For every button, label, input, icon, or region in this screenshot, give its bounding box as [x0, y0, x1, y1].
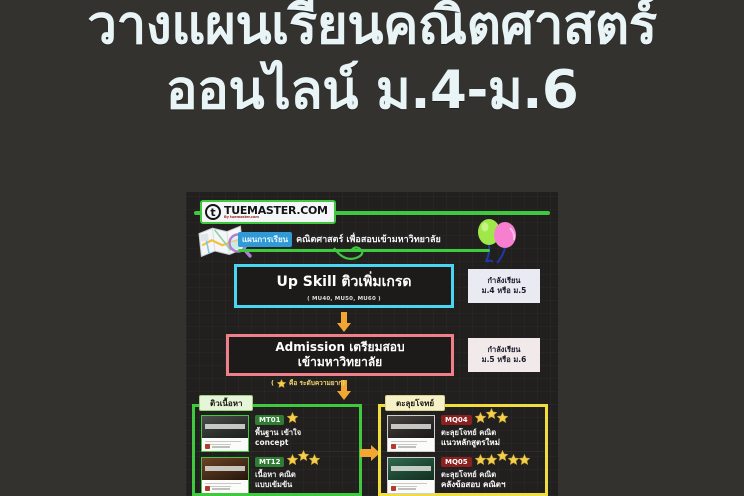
- thumbnail-caption-strip: [205, 424, 245, 429]
- thumbnail-logo-mark: [391, 444, 396, 449]
- thumbnail-meta-bar: [398, 446, 416, 448]
- arrow-down-icon-1: [337, 312, 351, 332]
- course-description: ตะลุยโจทย์ คณิต แนวหลักสูตรใหม่: [441, 428, 545, 449]
- difficulty-stars: [475, 454, 530, 465]
- upskill-course-codes: ( MU40, MU50, MU60 ): [307, 296, 381, 302]
- thumbnail-text-line: [205, 483, 241, 484]
- course-info: MQ05 ตะลุยโจทย์ คณิต คลังข้อสอบ คณิตฯ: [441, 457, 545, 491]
- infographic-page: วางแผนเรียนคณิตศาสตร์ ออนไลน์ ม.4-ม.6 t …: [0, 0, 744, 496]
- thumbnail-caption-strip: [391, 466, 431, 471]
- thumbnail-logo-mark: [205, 444, 210, 449]
- course-info: MQ04 ตะลุยโจทย์ คณิต แนวหลักสูตรใหม่: [441, 415, 545, 449]
- star-icon: [497, 412, 508, 423]
- panel-tab-content[interactable]: ติวเนื้อหา: [199, 395, 253, 411]
- course-row[interactable]: MQ05 ตะลุยโจทย์ คณิต คลังข้อสอบ คณิตฯ: [387, 457, 545, 495]
- upskill-grade-badge: กำลังเรียน ม.4 หรือ ม.5: [468, 269, 540, 303]
- course-description-line-1: เนื้อหา คณิต: [255, 470, 359, 480]
- course-row[interactable]: MT12 เนื้อหา คณิต แบบเข้มข้น: [201, 457, 359, 495]
- page-title-line-2: ออนไลน์ ม.4-ม.6: [0, 59, 744, 124]
- star-icon: [309, 454, 320, 465]
- course-info: MT01 พื้นฐาน เข้าใจ concept: [255, 415, 359, 448]
- course-code-badge: MQ04: [441, 415, 472, 425]
- page-title-line-1: วางแผนเรียนคณิตศาสตร์: [0, 0, 744, 59]
- thumbnail-image: [202, 458, 248, 480]
- thumbnail-text-line: [391, 441, 427, 442]
- thumbnail-footer: [202, 480, 248, 493]
- difficulty-stars: [287, 454, 320, 465]
- course-description-line-1: พื้นฐาน เข้าใจ: [255, 428, 359, 438]
- course-code-row: MQ04: [441, 415, 545, 427]
- course-code-row: MT01: [255, 415, 359, 427]
- panel-problem-courses: ตะลุยโจทย์ MQ04: [378, 404, 548, 496]
- course-row[interactable]: MQ04 ตะลุยโจทย์ คณิต แนวหลักสูตรใหม่: [387, 415, 545, 453]
- page-title: วางแผนเรียนคณิตศาสตร์ ออนไลน์ ม.4-ม.6: [0, 0, 744, 123]
- course-code-badge: MT01: [255, 415, 284, 425]
- course-code-badge: MQ05: [441, 457, 472, 467]
- admission-heading-line-2: เข้ามหาวิทยาลัย: [298, 355, 382, 370]
- brand-tagline: By tuemaster.com: [224, 216, 328, 220]
- course-row[interactable]: MT01 พื้นฐาน เข้าใจ concept: [201, 415, 359, 453]
- legend-text: คือ ระดับความยาก): [289, 378, 345, 388]
- star-icon: [277, 379, 286, 388]
- admission-grade-badge: กำลังเรียน ม.5 หรือ ม.6: [468, 338, 540, 372]
- course-description: พื้นฐาน เข้าใจ concept: [255, 428, 359, 448]
- star-icon: [298, 450, 309, 461]
- upskill-box[interactable]: Up Skill ติวเพิ่มเกรด ( MU40, MU50, MU60…: [234, 264, 454, 308]
- thumbnail-text-line: [391, 483, 427, 484]
- thumbnail-text-line: [205, 441, 241, 442]
- brand-logo-text: TUEMASTER.COM By tuemaster.com: [224, 205, 328, 220]
- course-code-row: MT12: [255, 457, 359, 469]
- panel-tab-problems[interactable]: ตะลุยโจทย์: [385, 395, 445, 411]
- star-icon: [497, 450, 508, 461]
- upskill-heading: Up Skill ติวเพิ่มเกรด: [277, 271, 412, 293]
- star-icon: [508, 454, 519, 465]
- star-legend: ( คือ ระดับความยาก): [271, 378, 345, 388]
- star-icon: [287, 454, 298, 465]
- thumbnail-image: [202, 416, 248, 438]
- thumbnail-logo-mark: [205, 486, 210, 491]
- star-icon: [486, 408, 497, 419]
- thumbnail-logo-mark: [391, 486, 396, 491]
- thumbnail-meta-bar: [212, 446, 230, 448]
- course-description: เนื้อหา คณิต แบบเข้มข้น: [255, 470, 359, 490]
- course-description-line-2: concept: [255, 438, 359, 448]
- course-info: MT12 เนื้อหา คณิต แบบเข้มข้น: [255, 457, 359, 490]
- swirl-decoration-icon: [332, 244, 370, 262]
- panel-content-courses: ติวเนื้อหา MT01: [192, 404, 362, 496]
- thumbnail-footer: [388, 438, 434, 451]
- thumbnail-meta-bar: [212, 488, 230, 490]
- thumbnail-caption-strip: [391, 424, 431, 429]
- course-description-line-2: แนวหลักสูตรใหม่: [441, 438, 545, 449]
- course-thumbnail[interactable]: [387, 415, 435, 452]
- star-icon: [486, 454, 497, 465]
- course-thumbnail[interactable]: [387, 457, 435, 494]
- thumbnail-meta-bar: [398, 488, 416, 490]
- arrow-right-icon: [360, 445, 380, 461]
- admission-badge-line-1: กำลังเรียน: [487, 345, 520, 355]
- course-description-line-1: ตะลุยโจทย์ คณิต: [441, 428, 545, 438]
- course-code-badge: MT12: [255, 457, 284, 467]
- brand-logo[interactable]: t TUEMASTER.COM By tuemaster.com: [200, 200, 336, 224]
- upskill-badge-line-2: ม.4 หรือ ม.5: [482, 286, 527, 296]
- admission-heading-line-1: Admission เตรียมสอบ: [275, 340, 404, 355]
- admission-box[interactable]: Admission เตรียมสอบ เข้ามหาวิทยาลัย: [226, 334, 454, 376]
- course-description: ตะลุยโจทย์ คณิต คลังข้อสอบ คณิตฯ: [441, 470, 545, 491]
- course-description-line-2: คลังข้อสอบ คณิตฯ: [441, 480, 545, 491]
- star-icon: [475, 454, 486, 465]
- star-icon: [519, 454, 530, 465]
- thumbnail-caption-strip: [205, 466, 245, 471]
- star-icon: [475, 412, 486, 423]
- upskill-badge-line-1: กำลังเรียน: [487, 276, 520, 286]
- course-description-line-2: แบบเข้มข้น: [255, 480, 359, 490]
- thumbnail-footer: [388, 480, 434, 493]
- infographic-panel: t TUEMASTER.COM By tuemaster.com: [186, 192, 558, 496]
- difficulty-stars: [475, 412, 508, 423]
- course-code-row: MQ05: [441, 457, 545, 469]
- admission-badge-line-2: ม.5 หรือ ม.6: [482, 355, 527, 365]
- course-thumbnail[interactable]: [201, 415, 249, 452]
- thumbnail-image: [388, 458, 434, 480]
- difficulty-stars: [287, 412, 298, 423]
- thumbnail-image: [388, 416, 434, 438]
- legend-prefix: (: [271, 379, 274, 387]
- tuemaster-circle-icon: t: [205, 204, 221, 220]
- thumbnail-footer: [202, 438, 248, 451]
- star-icon: [287, 412, 298, 423]
- course-thumbnail[interactable]: [201, 457, 249, 494]
- subtitle-chip: แผนการเรียน: [238, 232, 292, 247]
- course-description-line-1: ตะลุยโจทย์ คณิต: [441, 470, 545, 480]
